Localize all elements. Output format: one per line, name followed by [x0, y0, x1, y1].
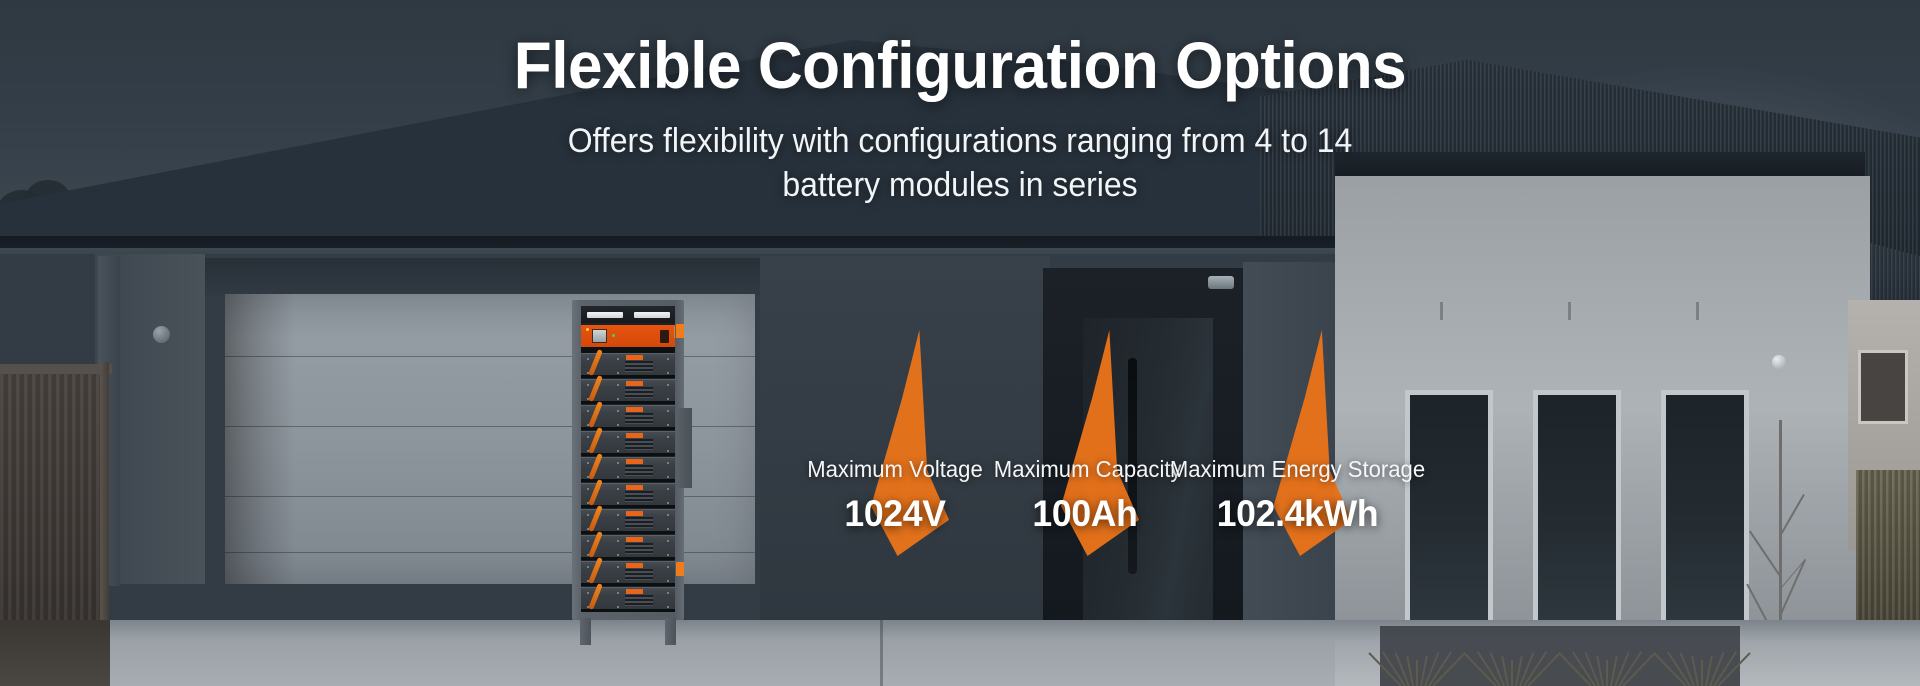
stat-value: 1024V [804, 493, 986, 535]
stat-maximum-capacity: Maximum Capacity 100Ah [990, 456, 1180, 535]
flexible-configuration-banner: Flexible Configuration Options Offers fl… [0, 0, 1920, 686]
stat-maximum-voltage: Maximum Voltage 1024V [800, 456, 990, 535]
stats-group: Maximum Voltage 1024V Maximum Capacity 1… [0, 0, 1920, 686]
stat-maximum-energy-storage: Maximum Energy Storage 102.4kWh [1155, 456, 1440, 535]
stat-label: Maximum Voltage [804, 456, 986, 483]
stat-label: Maximum Energy Storage [1161, 456, 1435, 483]
stat-label: Maximum Capacity [994, 456, 1176, 483]
stat-value: 100Ah [994, 493, 1176, 535]
stat-value: 102.4kWh [1161, 493, 1435, 535]
